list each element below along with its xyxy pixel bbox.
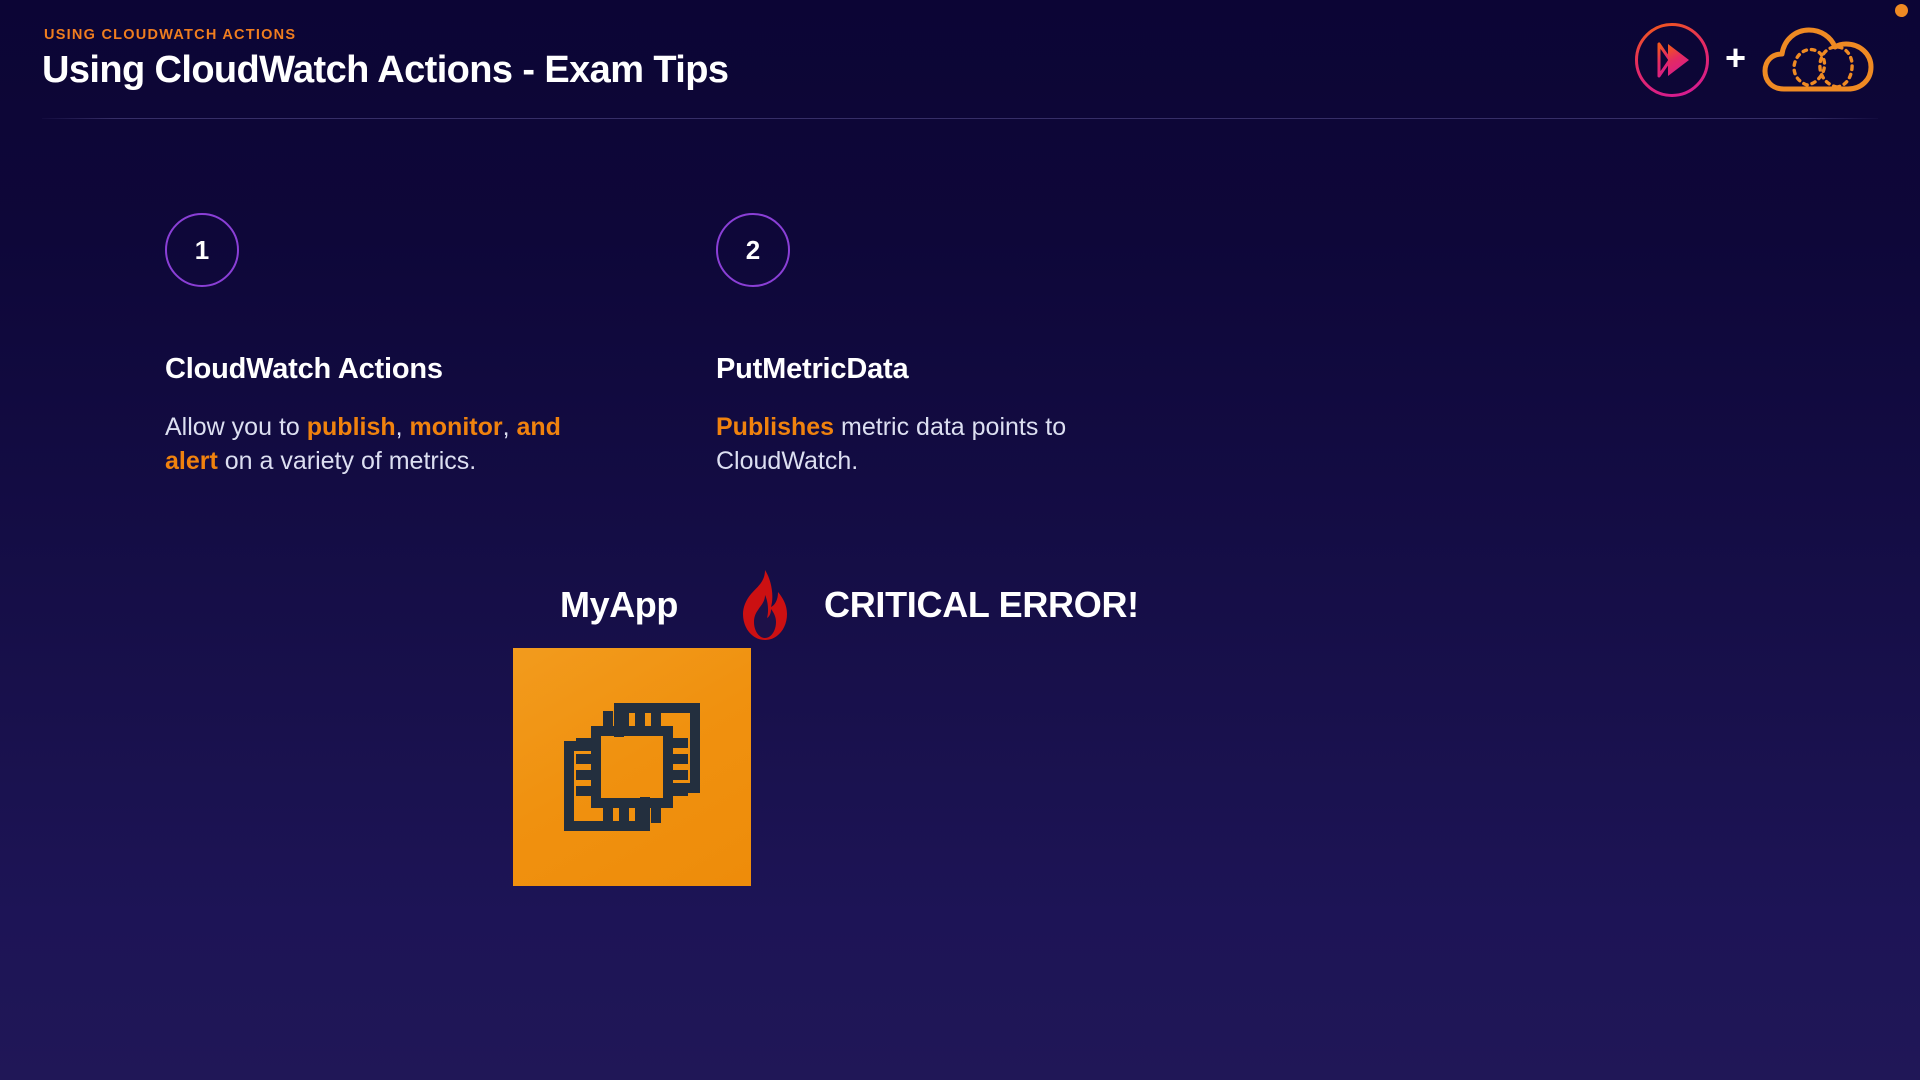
- play-circle-icon: [1633, 21, 1711, 99]
- fire-icon: [678, 569, 824, 641]
- page-title: Using CloudWatch Actions - Exam Tips: [42, 49, 728, 92]
- step-number-badge-2: 2: [716, 213, 790, 287]
- highlighted-term: Publishes: [716, 413, 834, 441]
- page-header: USING CLOUDWATCH ACTIONS Using CloudWatc…: [0, 0, 1920, 120]
- body-text-run: Allow you to: [165, 413, 307, 441]
- ec2-instance-icon: [513, 648, 751, 886]
- step-number-1: 1: [195, 235, 209, 266]
- step-body-1: Allow you to publish, monitor, and alert…: [165, 410, 585, 479]
- body-text-run: on a variety of metrics.: [218, 447, 476, 475]
- body-text-run: ,: [396, 413, 410, 441]
- step-heading-1: CloudWatch Actions: [165, 353, 585, 386]
- highlighted-term: monitor: [410, 413, 503, 441]
- body-text-run: ,: [503, 413, 517, 441]
- app-name-label: MyApp: [560, 584, 678, 626]
- plus-separator: +: [1725, 40, 1746, 80]
- step-number-badge-1: 1: [165, 213, 239, 287]
- brand-cluster: +: [1633, 14, 1880, 106]
- step-card-1: 1 CloudWatch Actions Allow you to publis…: [165, 213, 585, 479]
- highlighted-term: publish: [307, 413, 396, 441]
- cloudwatch-cloud-icon: [1760, 19, 1880, 101]
- step-heading-2: PutMetricData: [716, 353, 1136, 386]
- step-body-2: Publishes metric data points to CloudWat…: [716, 410, 1136, 479]
- step-number-2: 2: [746, 235, 760, 266]
- header-eyebrow: USING CLOUDWATCH ACTIONS: [44, 27, 296, 43]
- header-divider: [42, 118, 1878, 119]
- step-card-2: 2 PutMetricData Publishes metric data po…: [716, 213, 1136, 479]
- scene-label-row: MyApp CRITICAL ERROR!: [560, 575, 1139, 635]
- critical-error-label: CRITICAL ERROR!: [824, 584, 1139, 626]
